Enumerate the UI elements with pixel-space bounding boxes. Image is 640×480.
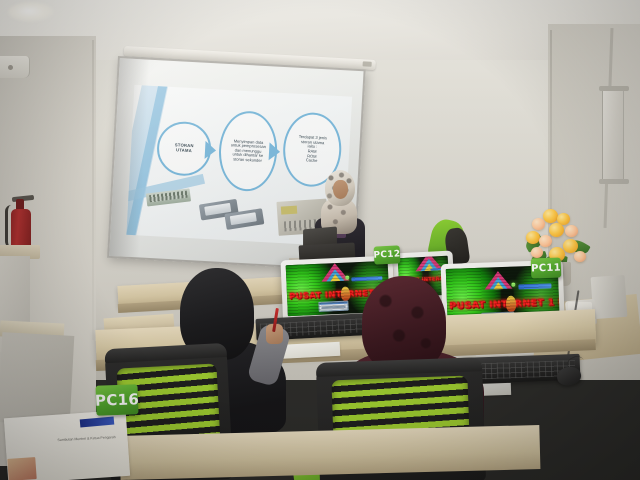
roller-end-cap: [363, 61, 372, 66]
slide-arrow-icon: [205, 141, 217, 160]
wall-fixture: [602, 88, 624, 182]
left-counter-body: [0, 332, 74, 426]
flower: [526, 231, 540, 244]
bubble1-line2: UTAMA: [165, 148, 202, 155]
vent-dot: [8, 65, 13, 70]
flower: [565, 225, 578, 237]
flower: [531, 247, 543, 258]
flower: [539, 235, 552, 247]
flower: [549, 223, 564, 237]
slide-arrow-icon: [269, 142, 281, 161]
student-right-hijab: [362, 276, 446, 372]
pc-label-pc16: PC16: [95, 384, 138, 415]
slide-bubble-storan-utama: STORAN UTAMA: [156, 120, 213, 177]
air-conditioner-vent-icon: [0, 56, 30, 78]
flower: [532, 218, 545, 230]
classroom-scene: STORAN UTAMA Menyimpan data untuk pempro…: [0, 0, 640, 480]
bubble2-line5: storan sekunder: [227, 157, 268, 164]
flower: [543, 209, 558, 223]
pc-label-pc12: PC12: [374, 245, 401, 264]
wall-corner-left: [92, 40, 94, 340]
pc-label-pc11: PC11: [531, 257, 562, 278]
presenter-face: [333, 180, 348, 199]
flower: [574, 251, 586, 262]
ceiling-light: [8, 2, 54, 22]
bubble3-line6: Cache: [291, 158, 332, 165]
document-caption: Sambutan Menteri & Ketua Pengarah: [57, 435, 115, 442]
document-thumbnail-image: [7, 457, 36, 480]
presenter: [311, 168, 369, 260]
